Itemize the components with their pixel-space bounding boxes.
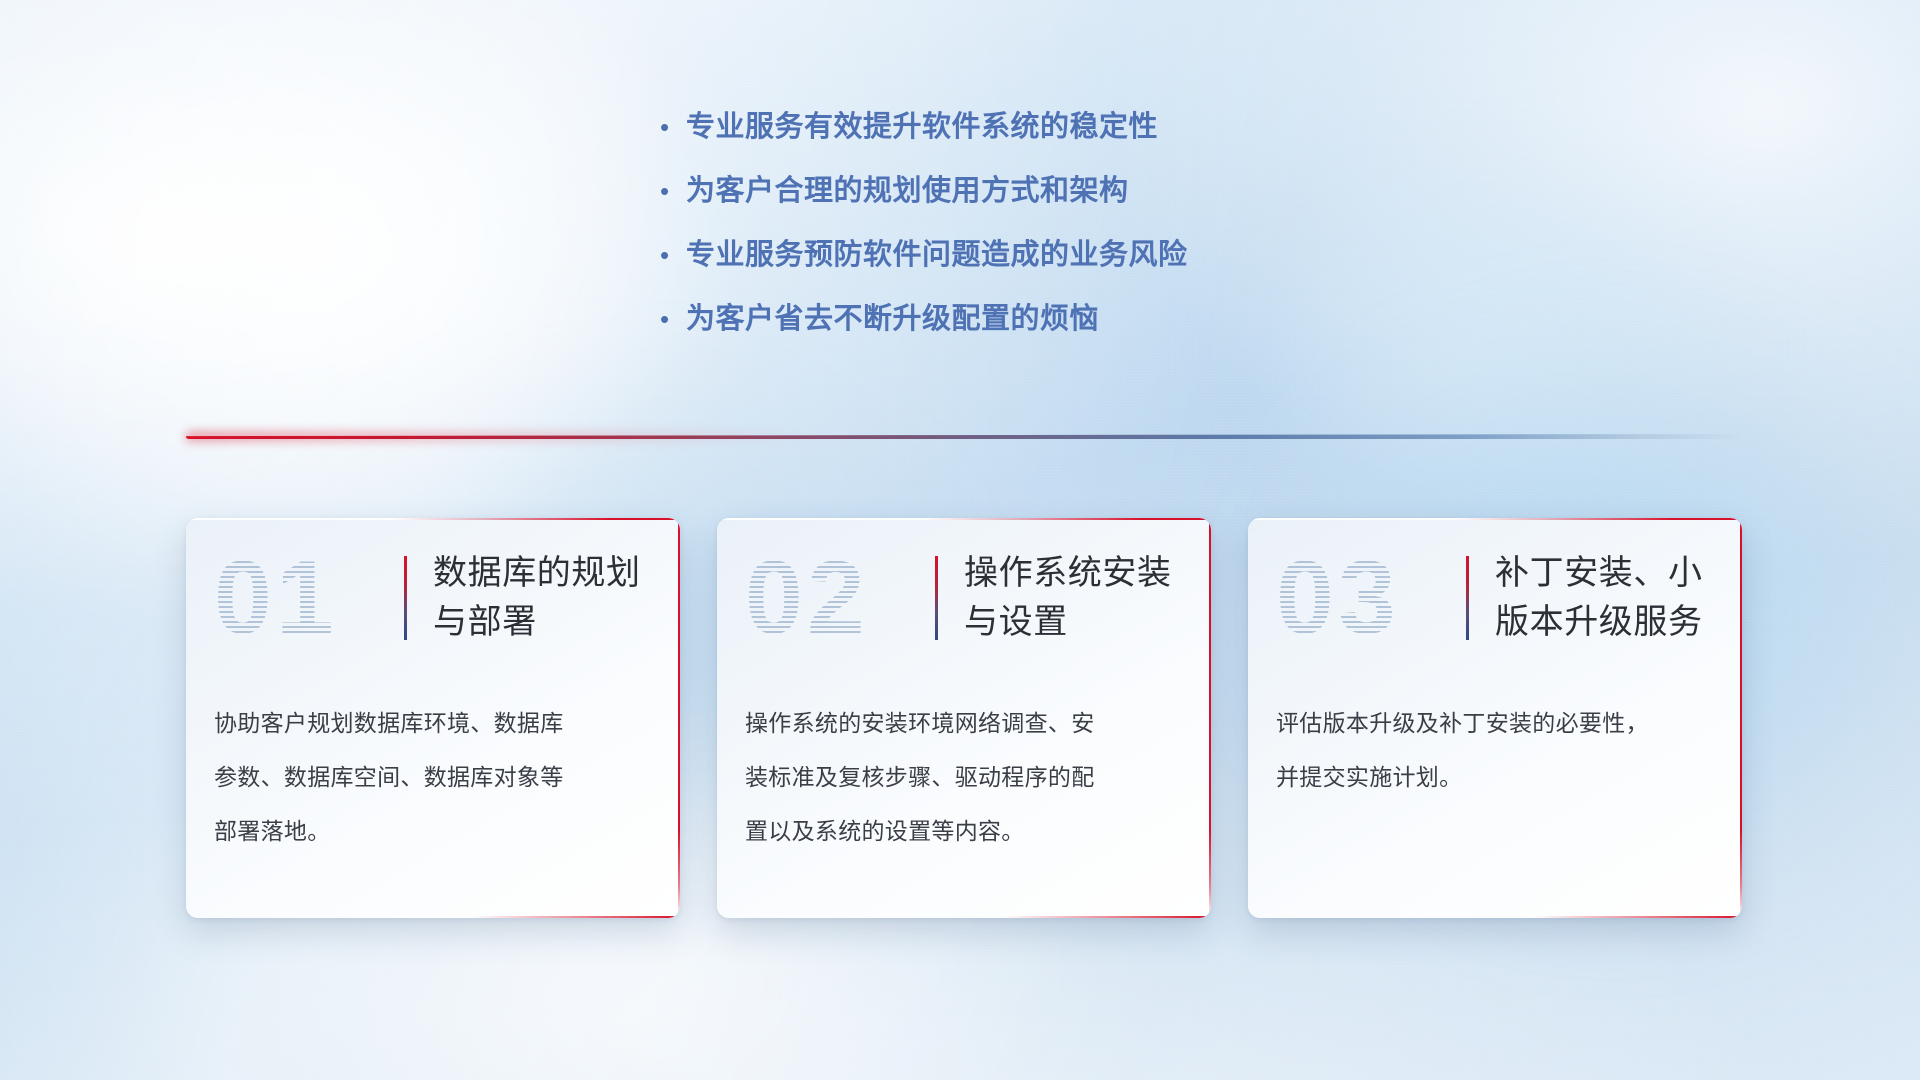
service-card[interactable]: 03 补丁安装、小 版本升级服务 评估版本升级及补丁安装的必要性， 并提交实施计…: [1248, 518, 1742, 918]
bullet-dot-icon: •: [660, 106, 686, 148]
bullet-dot-icon: •: [660, 234, 686, 276]
bullet-text: 为客户合理的规划使用方式和架构: [686, 170, 1129, 212]
card-bottom-accent: [186, 916, 680, 918]
card-divider-bar: [1466, 556, 1469, 640]
card-body-text: 协助客户规划数据库环境、数据库 参数、数据库空间、数据库对象等 部署落地。: [186, 678, 680, 858]
card-header: 01 数据库的规划 与部署: [186, 518, 680, 678]
card-body-text: 评估版本升级及补丁安装的必要性， 并提交实施计划。: [1248, 678, 1742, 804]
card-bottom-accent: [717, 916, 1211, 918]
bullet-text: 专业服务预防软件问题造成的业务风险: [686, 234, 1188, 276]
service-card-row: 01 数据库的规划 与部署 协助客户规划数据库环境、数据库 参数、数据库空间、数…: [186, 518, 1742, 918]
card-title: 补丁安装、小 版本升级服务: [1495, 549, 1703, 647]
card-body-text: 操作系统的安装环境网络调查、安 装标准及复核步骤、驱动程序的配 置以及系统的设置…: [717, 678, 1211, 858]
bullet-text: 专业服务有效提升软件系统的稳定性: [686, 106, 1158, 148]
bullet-dot-icon: •: [660, 298, 686, 340]
section-divider: [186, 430, 1742, 446]
service-card[interactable]: 02 操作系统安装 与设置 操作系统的安装环境网络调查、安 装标准及复核步骤、驱…: [717, 518, 1211, 918]
card-divider-bar: [404, 556, 407, 640]
list-item: • 为客户省去不断升级配置的烦恼: [660, 298, 1420, 340]
card-header: 02 操作系统安装 与设置: [717, 518, 1211, 678]
service-card[interactable]: 01 数据库的规划 与部署 协助客户规划数据库环境、数据库 参数、数据库空间、数…: [186, 518, 680, 918]
bullet-text: 为客户省去不断升级配置的烦恼: [686, 298, 1099, 340]
slide-root: • 专业服务有效提升软件系统的稳定性 • 为客户合理的规划使用方式和架构 • 专…: [0, 0, 1920, 1080]
card-title: 数据库的规划 与部署: [433, 549, 641, 647]
list-item: • 专业服务有效提升软件系统的稳定性: [660, 106, 1420, 148]
card-number: 02: [745, 546, 935, 650]
card-title: 操作系统安装 与设置: [964, 549, 1172, 647]
benefits-bullet-list: • 专业服务有效提升软件系统的稳定性 • 为客户合理的规划使用方式和架构 • 专…: [660, 106, 1420, 362]
card-divider-bar: [935, 556, 938, 640]
card-number: 01: [214, 546, 404, 650]
list-item: • 专业服务预防软件问题造成的业务风险: [660, 234, 1420, 276]
card-number: 03: [1276, 546, 1466, 650]
card-bottom-accent: [1248, 916, 1742, 918]
card-header: 03 补丁安装、小 版本升级服务: [1248, 518, 1742, 678]
bullet-dot-icon: •: [660, 170, 686, 212]
list-item: • 为客户合理的规划使用方式和架构: [660, 170, 1420, 212]
